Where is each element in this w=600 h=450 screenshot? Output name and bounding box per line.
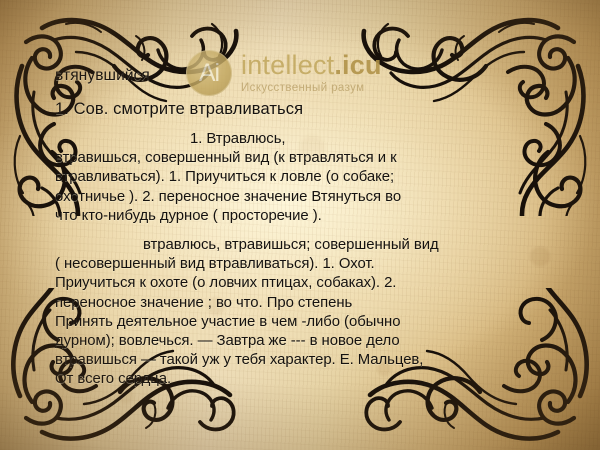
- paragraph-2-line-3: Приучиться к охоте (о ловчих птицах, соб…: [55, 274, 555, 293]
- paragraph-2-line-1: втравлюсь, втравишься; совершенный вид: [55, 236, 555, 255]
- paragraph-1-line-5: что кто-нибудь дурное ( просторечие ).: [55, 207, 555, 226]
- dictionary-entry: втянувшийся 1. Сов. смотрите втравливать…: [55, 66, 555, 390]
- paragraph-1-line-3: втравливаться). 1. Приучиться к ловле (о…: [55, 168, 555, 187]
- paragraph-2-line-4: переносное значение ; во что. Про степен…: [55, 294, 555, 313]
- paragraph-2-line-6: дурном); вовлечься. — Завтра же --- в но…: [55, 332, 555, 351]
- headword: втянувшийся: [55, 66, 555, 86]
- paragraph-2-line-2: ( несовершенный вид втравливаться). 1. О…: [55, 255, 555, 274]
- definition-paragraph-1: 1. Втравлюсь, втравишься, совершенный ви…: [55, 130, 555, 226]
- paragraph-1-line-2: втравишься, совершенный вид (к втравлять…: [55, 149, 555, 168]
- paragraph-2-line-5: Принять деятельное участие в чем -либо (…: [55, 313, 555, 332]
- paragraph-1-line-1-text: 1. Втравлюсь,: [190, 131, 286, 147]
- parchment-page: Ai intellect.icu Искусственный разум втя…: [0, 0, 600, 450]
- paragraph-2-line-8: От всего сердца.: [55, 370, 555, 389]
- paragraph-1-line-1: 1. Втравлюсь,: [55, 130, 555, 149]
- paragraph-2-line-1-text: втравлюсь, втравишься; совершенный вид: [143, 237, 439, 253]
- paragraph-2-line-7: втравишься — такой уж у тебя характер. Е…: [55, 351, 555, 370]
- definition-paragraph-2: втравлюсь, втравишься; совершенный вид (…: [55, 236, 555, 390]
- paragraph-1-line-4: охотничье ). 2. переносное значение Втян…: [55, 188, 555, 207]
- sense-reference-line: 1. Сов. смотрите втравливаться: [55, 98, 555, 120]
